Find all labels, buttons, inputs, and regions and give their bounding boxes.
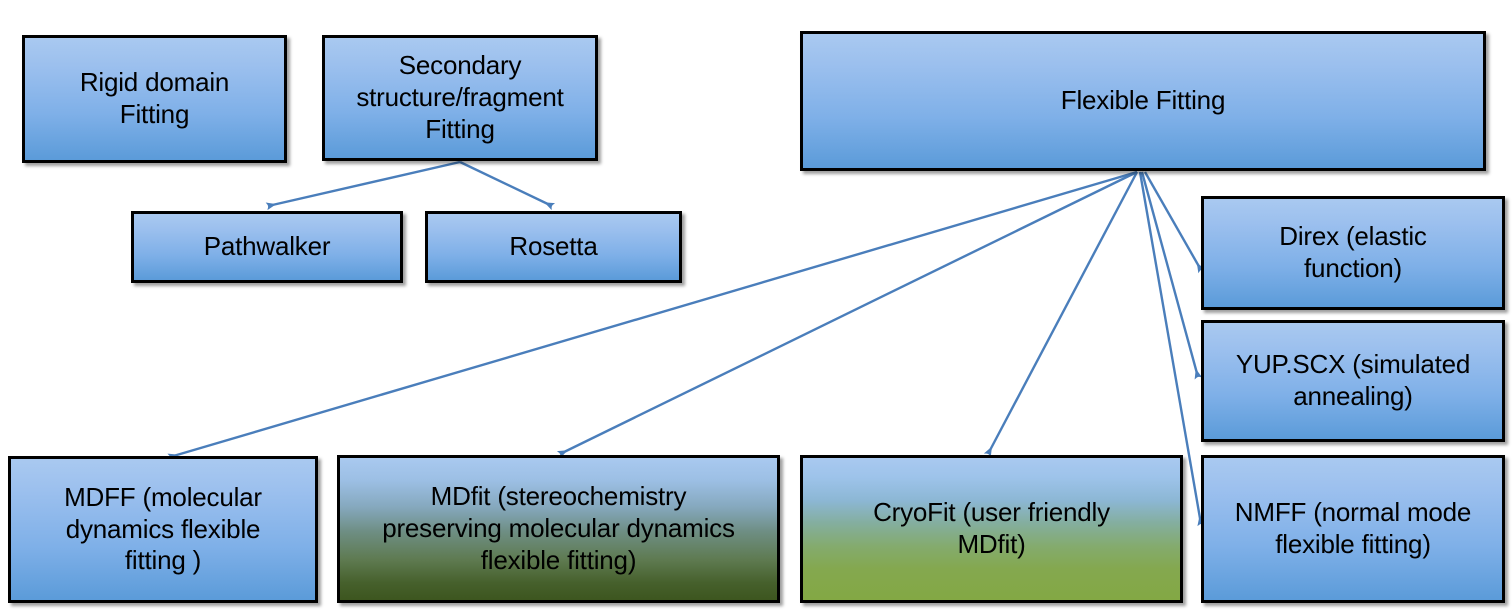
node-yup-scx[interactable]: YUP.SCX (simulated annealing) <box>1201 320 1505 442</box>
node-label: Direx (elastic function) <box>1212 221 1494 284</box>
node-label: CryoFit (user friendly MDfit) <box>811 497 1172 560</box>
connector-flexible-to-direx <box>1145 172 1201 270</box>
node-label: YUP.SCX (simulated annealing) <box>1212 349 1494 412</box>
node-cryofit[interactable]: CryoFit (user friendly MDfit) <box>800 455 1183 603</box>
connector-flexible-to-cryofit <box>988 172 1137 454</box>
node-nmff[interactable]: NMFF (normal mode flexible fitting) <box>1201 455 1505 603</box>
node-mdfit[interactable]: MDfit (stereochemistry preserving molecu… <box>337 455 780 603</box>
node-label: NMFF (normal mode flexible fitting) <box>1212 497 1494 560</box>
node-rosetta[interactable]: Rosetta <box>425 211 682 283</box>
node-direx[interactable]: Direx (elastic function) <box>1201 196 1505 310</box>
node-secondary-structure-fragment-fitting[interactable]: Secondary structure/fragment Fitting <box>322 35 598 161</box>
connector-secondary-to-rosetta <box>460 162 552 206</box>
node-label: Rigid domain Fitting <box>33 67 276 130</box>
node-label: Flexible Fitting <box>811 85 1475 117</box>
node-rigid-domain-fitting[interactable]: Rigid domain Fitting <box>22 35 287 163</box>
node-flexible-fitting[interactable]: Flexible Fitting <box>800 31 1486 171</box>
connector-flexible-to-yupscx <box>1142 172 1198 377</box>
node-label: Secondary structure/fragment Fitting <box>333 50 587 145</box>
node-label: MDFF (molecular dynamics flexible fittin… <box>19 482 307 577</box>
connector-secondary-to-pathwalker <box>268 162 460 206</box>
node-label: MDfit (stereochemistry preserving molecu… <box>348 481 769 576</box>
node-pathwalker[interactable]: Pathwalker <box>131 211 403 283</box>
node-label: Pathwalker <box>142 231 392 263</box>
node-mdff[interactable]: MDFF (molecular dynamics flexible fittin… <box>8 456 318 603</box>
node-label: Rosetta <box>436 231 671 263</box>
diagram-canvas: Rigid domain Fitting Secondary structure… <box>0 0 1512 610</box>
